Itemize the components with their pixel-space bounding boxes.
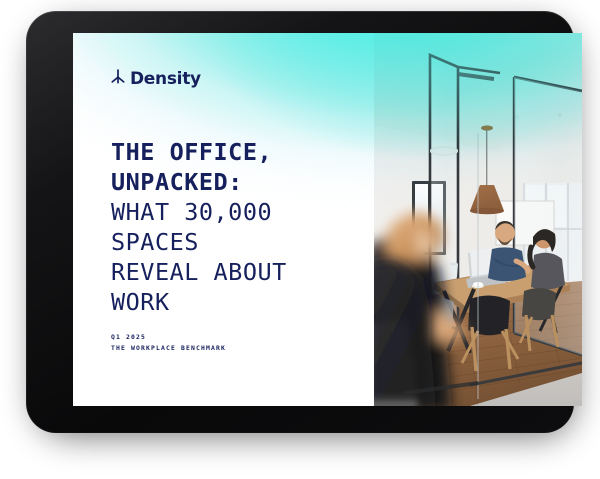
meta-quarter: Q1 2025 (111, 332, 226, 343)
cover-headline: THE OFFICE, UNPACKED: WHAT 30,000 SPACES… (111, 137, 373, 317)
screenshot-stage: Density THE OFFICE, UNPACKED: WHAT 30,00… (0, 0, 600, 479)
report-cover-page: Density THE OFFICE, UNPACKED: WHAT 30,00… (73, 33, 582, 406)
density-logo-icon (111, 69, 125, 89)
tablet-screen: Density THE OFFICE, UNPACKED: WHAT 30,00… (73, 33, 582, 406)
subhead-line-4: WORK (111, 287, 373, 317)
subhead-line-3: REVEAL ABOUT (111, 257, 373, 287)
cover-meta: Q1 2025 THE WORKPLACE BENCHMARK (111, 332, 226, 354)
meta-series: THE WORKPLACE BENCHMARK (111, 343, 226, 354)
cover-photo (374, 33, 582, 406)
brand-logo: Density (111, 69, 201, 89)
tablet-device-frame: Density THE OFFICE, UNPACKED: WHAT 30,00… (26, 11, 574, 433)
brand-name: Density (130, 71, 201, 88)
subhead-line-1: WHAT 30,000 (111, 197, 373, 227)
cover-text-column: Density THE OFFICE, UNPACKED: WHAT 30,00… (73, 33, 374, 406)
headline-line-1: THE OFFICE, (111, 137, 373, 167)
headline-line-2: UNPACKED: (111, 167, 373, 197)
subhead-line-2: SPACES (111, 227, 373, 257)
